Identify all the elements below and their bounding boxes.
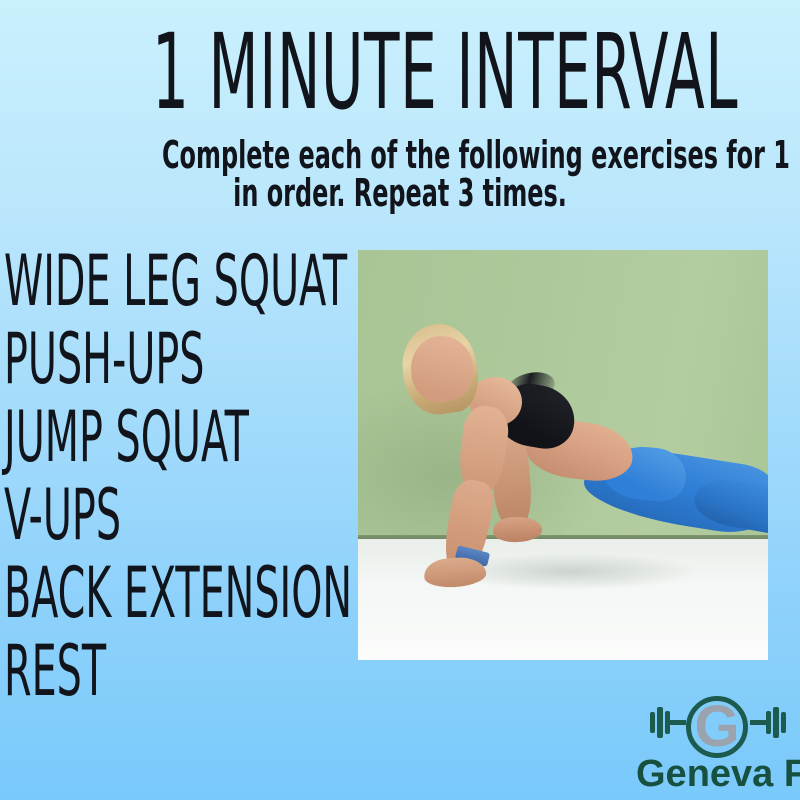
poster-subtitle: Complete each of the following exercises…: [162, 136, 638, 212]
dumbbell-logo-icon: G: [636, 694, 800, 760]
weight-plate-icon: [773, 707, 779, 738]
subtitle-line-1: Complete each of the following exercises…: [162, 136, 638, 174]
list-item: PUSH-UPS: [4, 322, 231, 400]
dumbbell-bar-icon: [750, 720, 766, 725]
exercise-photo: [358, 250, 768, 660]
brand-name: Geneva Fit: [636, 754, 800, 794]
exercise-list: WIDE LEG SQUAT PUSH-UPS JUMP SQUAT V-UPS…: [4, 244, 364, 712]
list-item: BACK EXTENSION: [4, 556, 231, 634]
page-title: 1 MINUTE INTERVAL: [152, 18, 648, 126]
weight-plate-icon: [766, 711, 771, 734]
dumbbell-bar-icon: [670, 720, 686, 725]
weight-plate-icon: [650, 712, 655, 733]
list-item: REST: [4, 634, 231, 712]
list-item: JUMP SQUAT: [4, 400, 231, 478]
workout-poster: 1 MINUTE INTERVAL Complete each of the f…: [0, 0, 800, 800]
weight-plate-icon: [657, 707, 663, 738]
brand-logo: G Geneva Fit: [636, 694, 800, 800]
list-item: V-UPS: [4, 478, 231, 556]
weight-plate-icon: [781, 712, 786, 733]
list-item: WIDE LEG SQUAT: [4, 244, 231, 322]
subtitle-line-2: in order. Repeat 3 times.: [162, 174, 638, 212]
logo-letter-mark: G: [686, 694, 748, 760]
